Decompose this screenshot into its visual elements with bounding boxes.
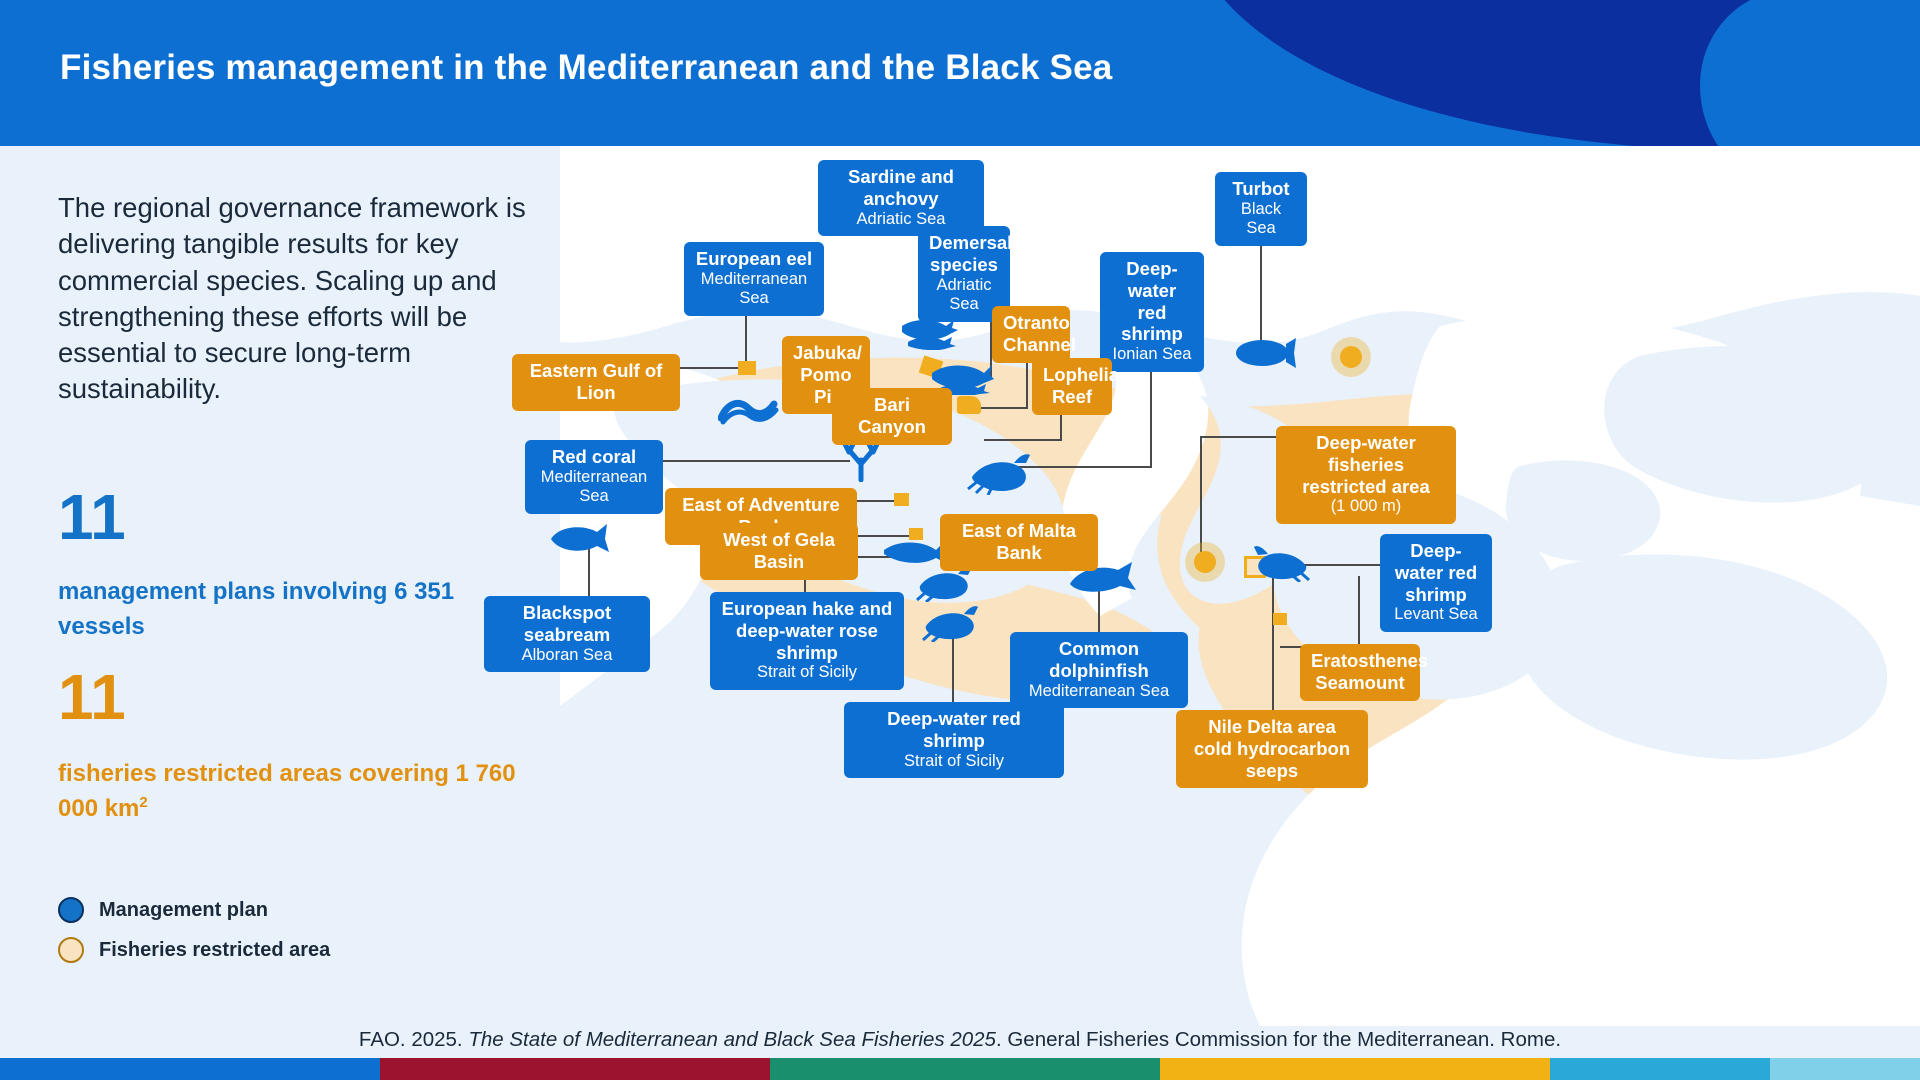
- leader-deep-water-red-shrimp-ionian-h: [1018, 466, 1152, 468]
- legend: Management plan Fisheries restricted are…: [58, 890, 330, 970]
- label-title: West of Gela Basin: [711, 529, 847, 573]
- label-subtitle: Mediterranean Sea: [536, 468, 652, 507]
- label-european-hake[interactable]: European hake and deep-water rose shrimp…: [710, 592, 904, 690]
- legend-item-management-plan: Management plan: [58, 890, 330, 930]
- label-subtitle: (1 000 m): [1287, 497, 1445, 516]
- leader-deep-water-fra-h: [1200, 436, 1276, 438]
- label-title: East of Malta Bank: [951, 520, 1087, 564]
- leader-eastern-gulf-of-lion: [680, 367, 740, 369]
- marker-fra-levant-square: [1273, 613, 1287, 625]
- colorbar-segment-5: [1550, 1058, 1770, 1080]
- colorbar-segment-4: [1160, 1058, 1550, 1080]
- label-common-dolphinfish[interactable]: Common dolphinfish Mediterranean Sea: [1010, 632, 1188, 708]
- leader-deep-water-red-shrimp-sicily: [952, 636, 954, 702]
- label-subtitle: Alboran Sea: [495, 646, 639, 665]
- label-title: Deep-water red shrimp: [1391, 540, 1481, 605]
- footer-citation: FAO. 2025. The State of Mediterranean an…: [0, 1028, 1920, 1052]
- legend-swatch-fisheries-restricted-area-icon: [58, 937, 84, 963]
- icon-deep-water-red-shrimp-levant-marker: [1252, 542, 1312, 582]
- stat-label-restricted-areas: fisheries restricted areas covering 1 76…: [58, 757, 528, 827]
- colorbar-segment-3: [770, 1058, 1160, 1080]
- stat-label-management-plans: management plans involving 6 351 vessels: [58, 575, 528, 645]
- footer-citation-pre: FAO. 2025.: [359, 1028, 468, 1051]
- label-bari-canyon[interactable]: Bari Canyon: [832, 388, 952, 445]
- footer-colorbar: [0, 1058, 1920, 1080]
- stat-number-restricted-areas: 11: [58, 665, 126, 729]
- label-subtitle: Strait of Sicily: [855, 752, 1053, 771]
- intro-paragraph: The regional governance framework is del…: [58, 190, 578, 408]
- marker-fra-bari-canyon: [957, 396, 981, 414]
- stat-number-management-plans: 11: [58, 485, 126, 549]
- colorbar-segment-2: [380, 1058, 770, 1080]
- label-title: European eel: [695, 248, 813, 270]
- label-title: Otranto Channel: [1003, 312, 1059, 356]
- label-title: European hake and deep-water rose shrimp: [721, 598, 893, 663]
- header-decorative-swoosh-inner: [1700, 0, 1920, 146]
- leader-lophelia-reef-h: [984, 439, 1062, 441]
- icon-blackspot-seabream-marker: [545, 522, 611, 556]
- label-title: Bari Canyon: [843, 394, 941, 438]
- label-nile-delta-seeps[interactable]: Nile Delta area cold hydrocarbon seeps: [1176, 710, 1368, 788]
- label-west-of-gela-basin[interactable]: West of Gela Basin: [700, 523, 858, 580]
- colorbar-segment-1: [0, 1058, 380, 1080]
- stat-label-restricted-areas-text: fisheries restricted areas covering 1 76…: [58, 760, 516, 822]
- label-deep-water-red-shrimp-ionian[interactable]: Deep-water red shrimp Ionian Sea: [1100, 252, 1204, 372]
- footer-citation-post: . General Fisheries Commission for the M…: [996, 1028, 1561, 1051]
- label-east-of-malta-bank[interactable]: East of Malta Bank: [940, 514, 1098, 571]
- marker-fra-eratosthenes-seamount: [1194, 551, 1216, 573]
- label-title: Nile Delta area cold hydrocarbon seeps: [1187, 716, 1357, 781]
- label-deep-water-red-shrimp-levant[interactable]: Deep-water red shrimp Levant Sea: [1380, 534, 1492, 632]
- label-title: Deep-water red shrimp: [1111, 258, 1193, 345]
- marker-fra-deep-water-black-sea: [1340, 346, 1362, 368]
- label-title: Lophelia Reef: [1043, 364, 1101, 408]
- label-subtitle: Black Sea: [1226, 200, 1296, 239]
- stat-label-superscript: 2: [139, 794, 147, 811]
- leader-otranto-channel-h: [980, 407, 1028, 409]
- leader-red-coral: [660, 460, 850, 462]
- leader-eratosthenes: [1358, 576, 1360, 646]
- legend-label-management-plan: Management plan: [99, 899, 268, 922]
- label-title: Deep-water red shrimp: [855, 708, 1053, 752]
- colorbar-segment-6: [1770, 1058, 1920, 1080]
- label-otranto-channel[interactable]: Otranto Channel: [992, 306, 1070, 363]
- label-deep-water-red-shrimp-sicily[interactable]: Deep-water red shrimp Strait of Sicily: [844, 702, 1064, 778]
- label-european-eel[interactable]: European eel Mediterranean Sea: [684, 242, 824, 316]
- label-red-coral[interactable]: Red coral Mediterranean Sea: [525, 440, 663, 514]
- label-subtitle: Adriatic Sea: [929, 276, 999, 315]
- label-title: Demersal species: [929, 232, 999, 276]
- label-title: Common dolphinfish: [1021, 638, 1177, 682]
- label-turbot[interactable]: Turbot Black Sea: [1215, 172, 1307, 246]
- label-subtitle: Mediterranean Sea: [1021, 682, 1177, 701]
- label-sardine-anchovy[interactable]: Sardine and anchovy Adriatic Sea: [818, 160, 984, 236]
- marker-fra-eastern-gulf-of-lion: [738, 361, 756, 375]
- label-eratosthenes-seamount[interactable]: Eratosthenes Seamount: [1300, 644, 1420, 701]
- page-header: Fisheries management in the Mediterranea…: [0, 0, 1920, 146]
- legend-swatch-management-plan-icon: [58, 897, 84, 923]
- leader-east-of-adventure-bank: [856, 500, 898, 502]
- marker-fra-east-of-adventure-bank: [894, 493, 909, 506]
- label-subtitle: Ionian Sea: [1111, 345, 1193, 364]
- legend-label-fisheries-restricted-area: Fisheries restricted area: [99, 939, 330, 962]
- label-blackspot-seabream[interactable]: Blackspot seabream Alboran Sea: [484, 596, 650, 672]
- label-title: Deep-water fisheries restricted area: [1287, 432, 1445, 497]
- leader-deep-water-red-shrimp-levant: [1300, 564, 1380, 566]
- label-deep-water-fisheries-restricted-area[interactable]: Deep-water fisheries restricted area (1 …: [1276, 426, 1456, 524]
- legend-item-fisheries-restricted-area: Fisheries restricted area: [58, 930, 330, 970]
- label-subtitle: Levant Sea: [1391, 605, 1481, 624]
- icon-turbot-marker: [1232, 336, 1298, 370]
- map-region: Sardine and anchovy Adriatic Sea Turbot …: [560, 146, 1920, 1026]
- label-eastern-gulf-of-lion[interactable]: Eastern Gulf of Lion: [512, 354, 680, 411]
- icon-deep-water-red-shrimp-ionian-marker: [966, 451, 1032, 495]
- label-subtitle: Strait of Sicily: [721, 663, 893, 682]
- footer-citation-title: The State of Mediterranean and Black Sea…: [468, 1028, 996, 1051]
- label-title: Blackspot seabream: [495, 602, 639, 646]
- page-title: Fisheries management in the Mediterranea…: [60, 48, 1112, 88]
- icon-deep-water-red-shrimp-sicily-marker: [920, 602, 980, 642]
- leader-deep-water-fra-v: [1200, 436, 1202, 562]
- label-title: Turbot: [1226, 178, 1296, 200]
- icon-eel-marker: [718, 392, 780, 426]
- label-lophelia-reef[interactable]: Lophelia Reef: [1032, 358, 1112, 415]
- label-title: Eastern Gulf of Lion: [523, 360, 669, 404]
- label-title: Eratosthenes Seamount: [1311, 650, 1409, 694]
- label-subtitle: Mediterranean Sea: [695, 270, 813, 309]
- label-title: Red coral: [536, 446, 652, 468]
- leader-nile-delta: [1272, 576, 1274, 710]
- label-title: Sardine and anchovy: [829, 166, 973, 210]
